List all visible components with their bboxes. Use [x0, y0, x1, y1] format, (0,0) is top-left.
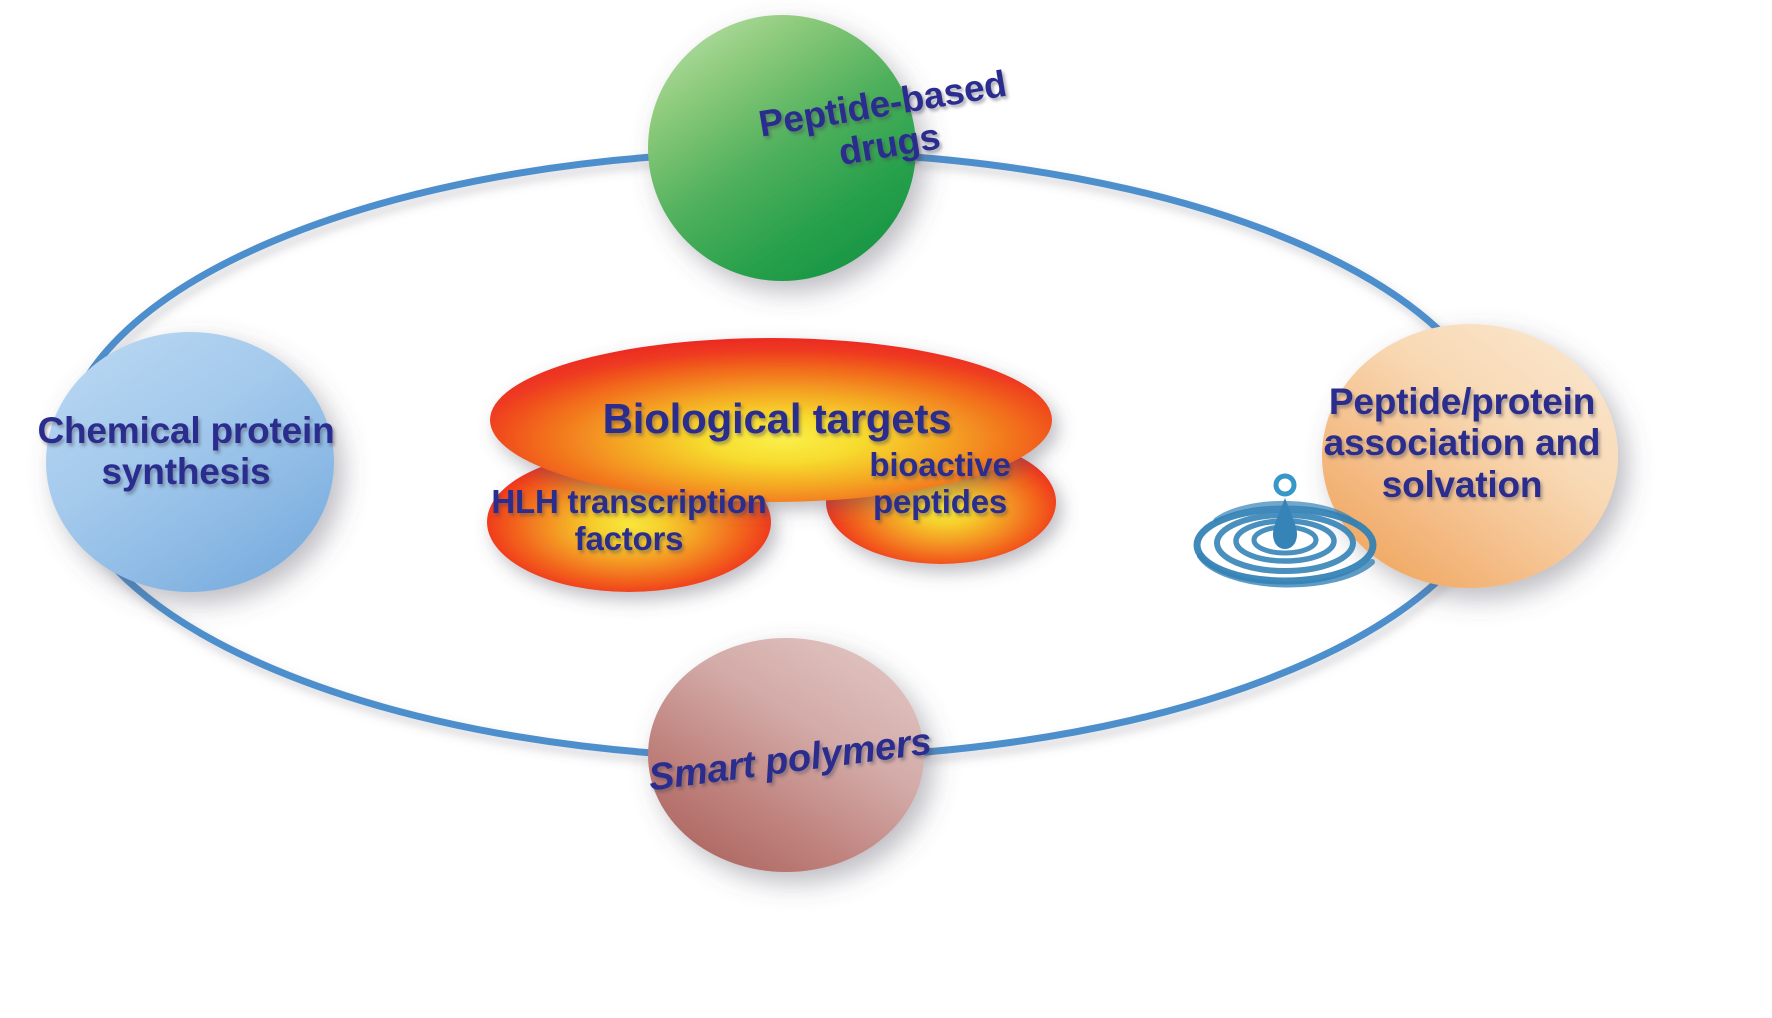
node-smart-polymers-shape[interactable] [648, 638, 924, 872]
node-peptide-protein-association-shape[interactable] [1322, 324, 1618, 588]
node-peptide-based-drugs-shape[interactable] [648, 15, 916, 281]
node-chemical-protein-synthesis-shape[interactable] [46, 332, 334, 592]
node-biological-targets-shape[interactable] [490, 338, 1052, 502]
diagram-canvas: Peptide-baseddrugs Chemical proteinsynth… [0, 0, 1772, 1018]
diagram-shapes-layer [0, 0, 1772, 1018]
